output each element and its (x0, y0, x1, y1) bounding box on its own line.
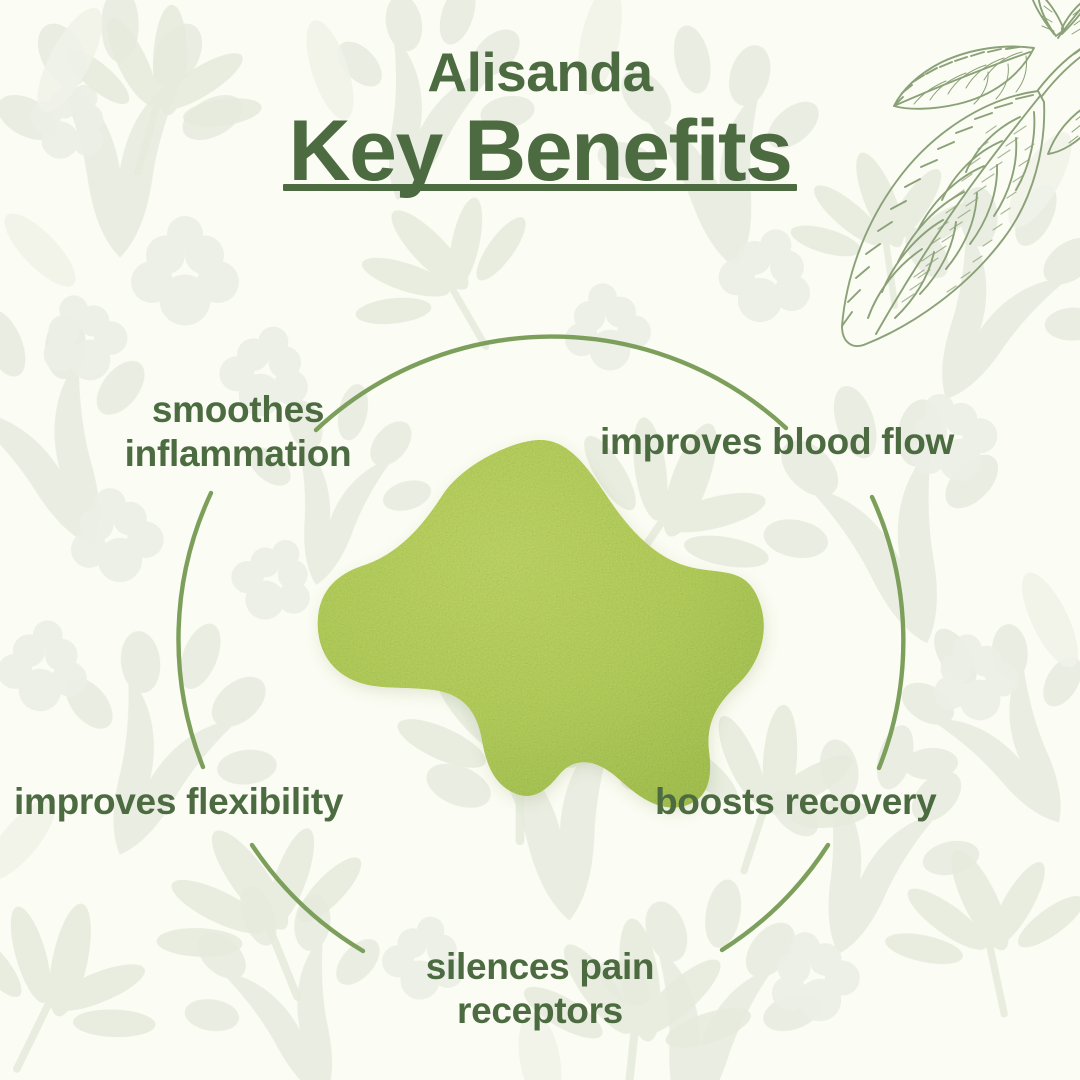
brand-name: Alisanda (0, 44, 1080, 102)
benefit-label-smoothes-inflammation: smoothes inflammation (58, 388, 418, 475)
arc-bottom-right (722, 845, 828, 950)
benefit-label-improves-flexibility: improves flexibility (14, 780, 464, 824)
page-title: Key Benefits (283, 108, 798, 196)
benefit-label-boosts-recovery: boosts recovery (655, 780, 1055, 824)
heading-block: Alisanda Key Benefits (0, 44, 1080, 195)
key-benefits-infographic: Alisanda Key Benefits (0, 0, 1080, 1080)
arc-left (178, 493, 211, 767)
benefit-label-silences-pain-receptors: silences pain receptors (340, 945, 740, 1032)
page-title-wrap: Key Benefits (283, 108, 798, 196)
arc-right (872, 497, 903, 768)
benefit-label-improves-blood-flow: improves blood flow (600, 420, 1070, 464)
arc-bottom-left (252, 845, 363, 951)
title-underline (283, 184, 798, 191)
